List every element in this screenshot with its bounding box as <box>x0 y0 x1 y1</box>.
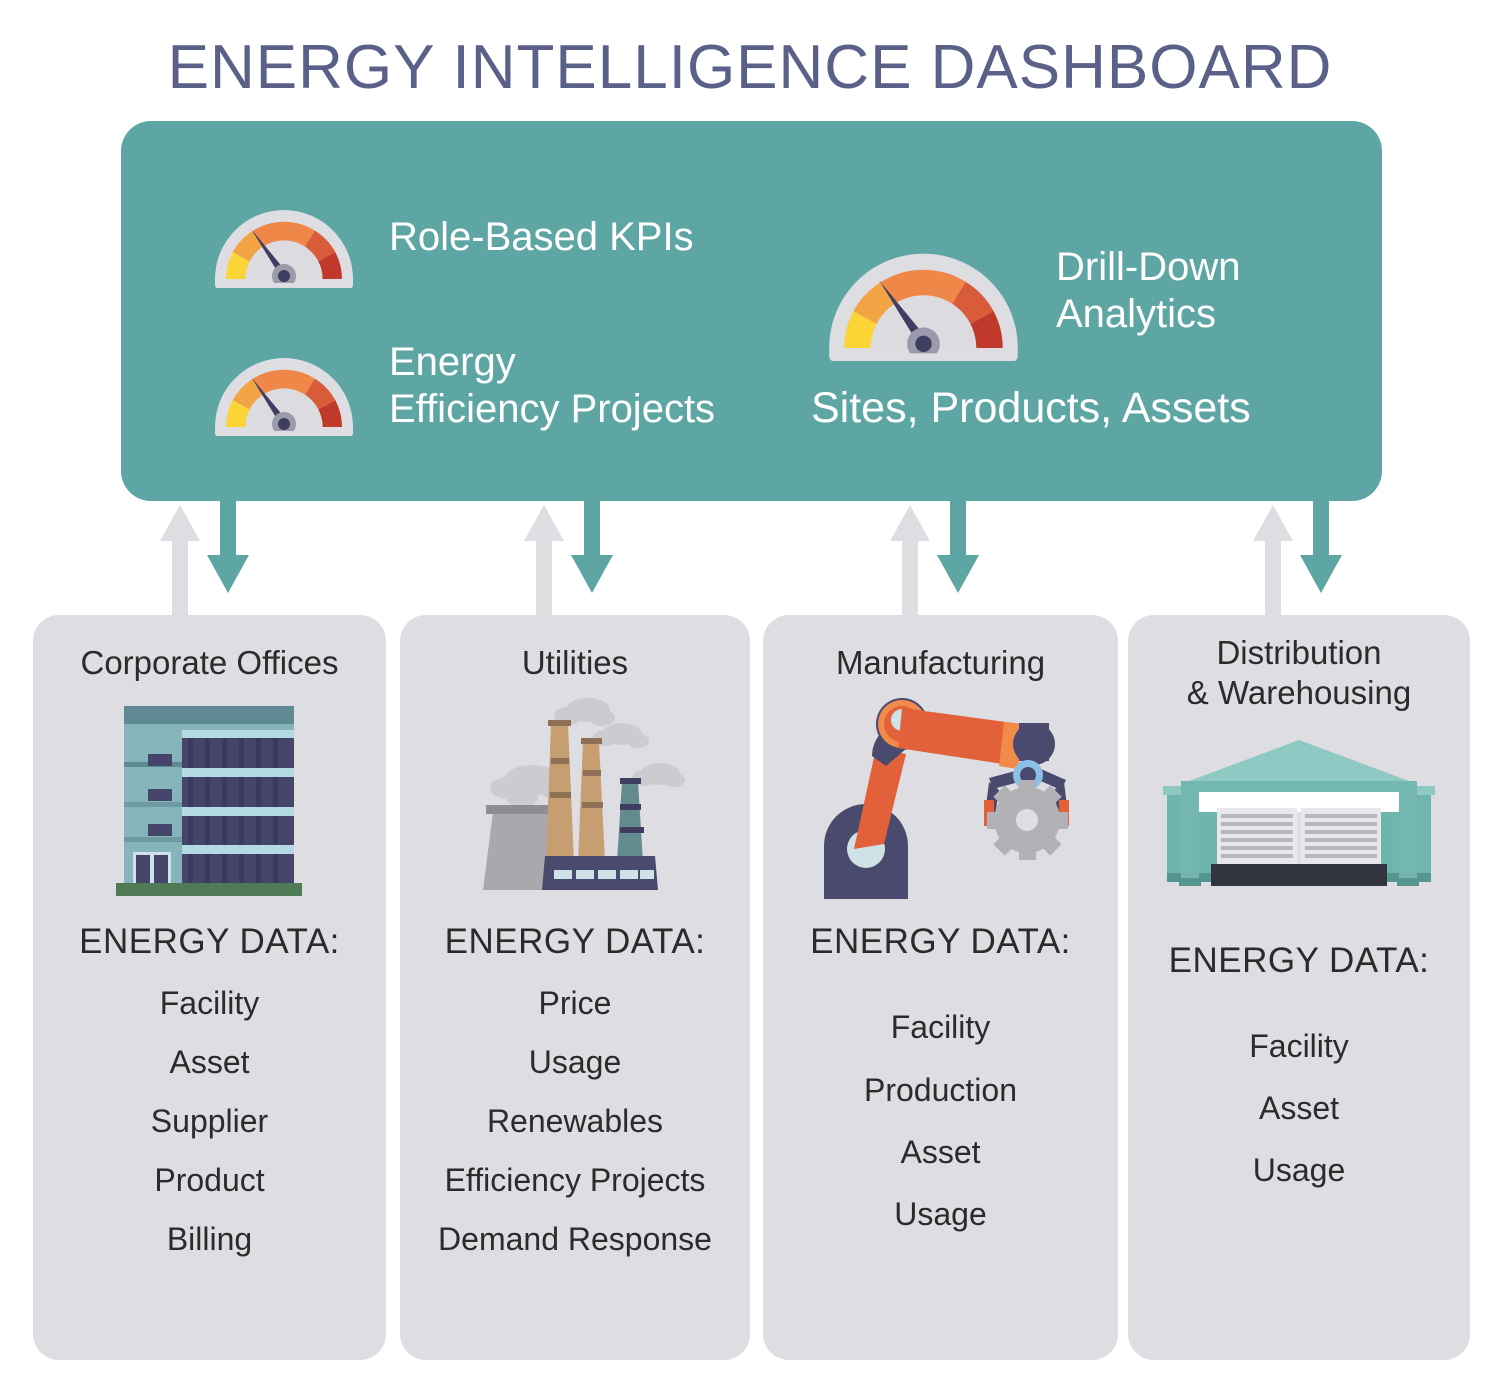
page-title: ENERGY INTELLIGENCE DASHBOARD <box>0 32 1500 103</box>
hero-label-line2: Analytics <box>1056 291 1240 338</box>
arrow-up-utilities <box>524 505 564 620</box>
diagram-canvas: ENERGY INTELLIGENCE DASHBOARD <box>0 0 1500 1386</box>
gauge-icon <box>821 216 1026 366</box>
list-item: Usage <box>763 1183 1118 1245</box>
list-item: Asset <box>763 1121 1118 1183</box>
card-title: Distribution & Warehousing <box>1128 615 1470 714</box>
arrow-up-corporate-offices <box>160 505 200 620</box>
hero-label-line1: Drill-Down <box>1056 244 1240 291</box>
office-building-icon <box>33 689 386 904</box>
arrow-down-distribution-warehousing <box>1300 497 1342 593</box>
hero-panel: Role-Based KPIs <box>121 121 1382 501</box>
card-data-list: Facility Asset Supplier Product Billing <box>33 974 386 1268</box>
hero-label-role-based-kpis: Role-Based KPIs <box>389 214 694 261</box>
hero-label-line2: Efficiency Projects <box>389 386 715 433</box>
card-title: Utilities <box>400 615 750 683</box>
card-data-heading: ENERGY DATA: <box>33 922 386 962</box>
list-item: Production <box>763 1059 1118 1121</box>
arrow-up-manufacturing <box>890 505 930 620</box>
list-item: Facility <box>1128 1015 1470 1077</box>
hero-item-energy-efficiency-projects: Energy Efficiency Projects <box>209 331 715 441</box>
list-item: Billing <box>33 1210 386 1269</box>
hero-label-energy-efficiency-projects: Energy Efficiency Projects <box>389 339 715 433</box>
hero-item-drill-down-analytics: Drill-Down Analytics <box>821 216 1240 366</box>
card-data-heading: ENERGY DATA: <box>400 922 750 962</box>
gauge-icon <box>209 331 359 441</box>
card-title: Manufacturing <box>763 615 1118 683</box>
list-item: Product <box>33 1151 386 1210</box>
card-distribution-warehousing[interactable]: Distribution & Warehousing <box>1128 615 1470 1360</box>
hero-item-sites-products-assets: Sites, Products, Assets <box>811 383 1251 434</box>
list-item: Asset <box>1128 1077 1470 1139</box>
card-data-list: Price Usage Renewables Efficiency Projec… <box>400 974 750 1268</box>
hero-label-line1: Energy <box>389 339 715 386</box>
card-corporate-offices[interactable]: Corporate Offices <box>33 615 386 1360</box>
card-manufacturing[interactable]: Manufacturing <box>763 615 1118 1360</box>
list-item: Renewables <box>400 1092 750 1151</box>
list-item: Demand Response <box>400 1210 750 1269</box>
arrow-down-corporate-offices <box>207 497 249 593</box>
hero-label-sites-products-assets: Sites, Products, Assets <box>811 383 1251 434</box>
list-item: Facility <box>763 996 1118 1058</box>
list-item: Asset <box>33 1033 386 1092</box>
gauge-icon <box>209 183 359 293</box>
warehouse-icon <box>1128 716 1470 911</box>
card-data-heading: ENERGY DATA: <box>763 922 1118 962</box>
card-title-line2: & Warehousing <box>1128 673 1470 713</box>
robot-arm-icon <box>763 689 1118 904</box>
list-item: Supplier <box>33 1092 386 1151</box>
hero-item-role-based-kpis: Role-Based KPIs <box>209 183 694 293</box>
hero-label-drill-down-analytics: Drill-Down Analytics <box>1056 244 1240 338</box>
arrow-down-manufacturing <box>937 497 979 593</box>
list-item: Price <box>400 974 750 1033</box>
card-data-list: Facility Asset Usage <box>1128 1015 1470 1202</box>
card-data-heading: ENERGY DATA: <box>1128 941 1470 981</box>
power-plant-icon <box>400 689 750 904</box>
card-title-line1: Distribution <box>1128 633 1470 673</box>
card-utilities[interactable]: Utilities <box>400 615 750 1360</box>
list-item: Usage <box>1128 1139 1470 1201</box>
card-title: Corporate Offices <box>33 615 386 683</box>
card-data-list: Facility Production Asset Usage <box>763 996 1118 1246</box>
list-item: Usage <box>400 1033 750 1092</box>
arrow-down-utilities <box>571 497 613 593</box>
list-item: Efficiency Projects <box>400 1151 750 1210</box>
arrow-up-distribution-warehousing <box>1253 505 1293 620</box>
list-item: Facility <box>33 974 386 1033</box>
